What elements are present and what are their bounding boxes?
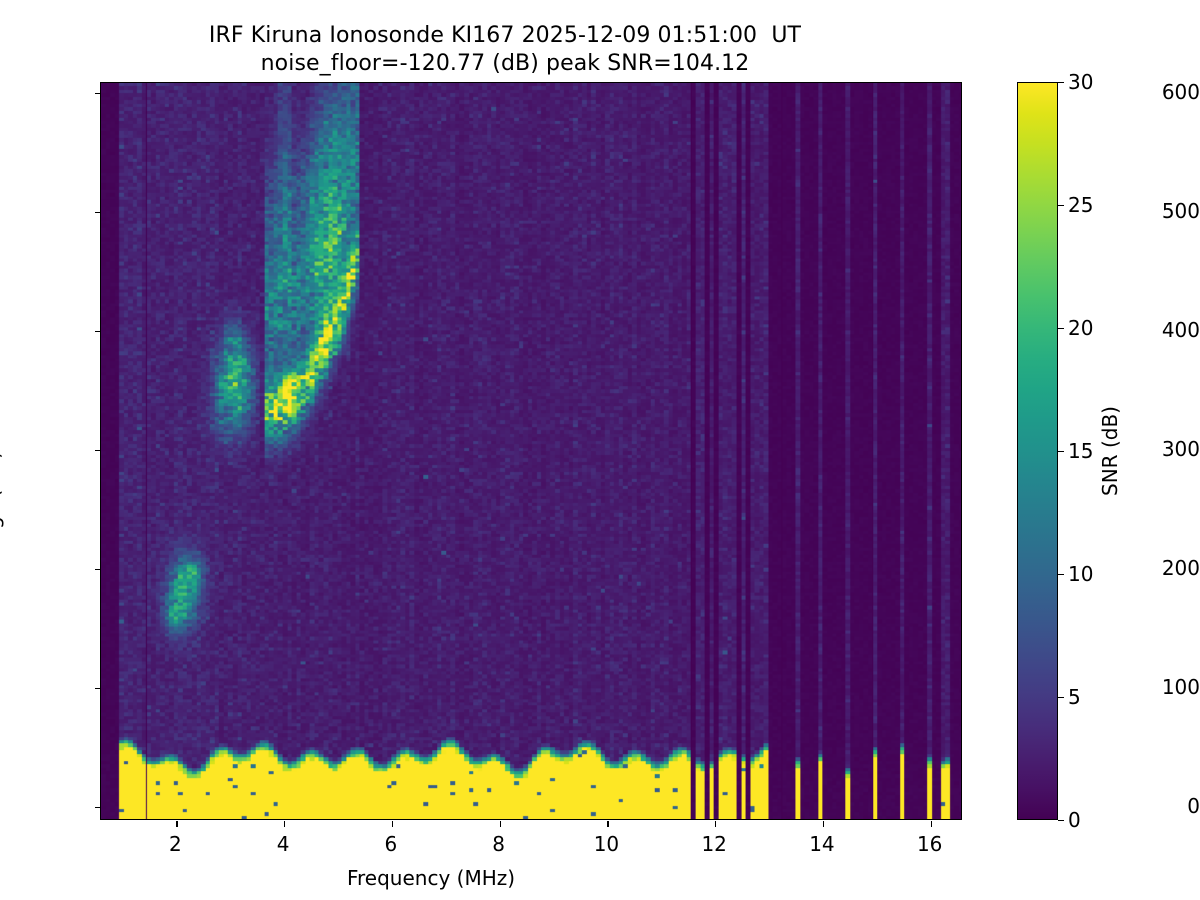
y-tick-label: 100 <box>1112 675 1200 699</box>
x-tick <box>392 821 393 827</box>
colorbar: 051015202530 <box>1017 82 1058 820</box>
y-tick-label: 0 <box>1112 794 1200 818</box>
y-tick <box>95 688 101 689</box>
colorbar-tick <box>1058 697 1064 698</box>
y-tick <box>95 93 101 94</box>
colorbar-tick <box>1058 82 1064 83</box>
x-tick-label: 4 <box>277 832 290 856</box>
colorbar-tick-label: 15 <box>1068 439 1093 463</box>
x-tick-label: 16 <box>917 832 942 856</box>
x-tick-label: 10 <box>594 832 619 856</box>
ionogram-heatmap <box>101 83 961 819</box>
colorbar-tick-label: 30 <box>1068 70 1093 94</box>
x-tick <box>823 821 824 827</box>
y-tick-label: 400 <box>1112 318 1200 342</box>
y-tick <box>95 331 101 332</box>
x-axis-label: Frequency (MHz) <box>347 866 515 890</box>
title-line-2: noise_floor=-120.77 (dB) peak SNR=104.12 <box>0 50 1010 78</box>
y-tick <box>95 807 101 808</box>
colorbar-tick <box>1058 574 1064 575</box>
x-tick-label: 12 <box>701 832 726 856</box>
x-tick-label: 2 <box>169 832 182 856</box>
colorbar-tick <box>1058 820 1064 821</box>
y-tick <box>95 450 101 451</box>
colorbar-tick <box>1058 451 1064 452</box>
y-tick-label: 500 <box>1112 199 1200 223</box>
y-tick-label: 300 <box>1112 437 1200 461</box>
x-tick-label: 8 <box>492 832 505 856</box>
colorbar-tick-label: 0 <box>1068 808 1081 832</box>
ionogram-figure: IRF Kiruna Ionosonde KI167 2025-12-09 01… <box>0 0 1200 900</box>
figure-title: IRF Kiruna Ionosonde KI167 2025-12-09 01… <box>0 22 1010 78</box>
title-line-1: IRF Kiruna Ionosonde KI167 2025-12-09 01… <box>0 22 1010 50</box>
colorbar-tick <box>1058 328 1064 329</box>
y-tick <box>95 212 101 213</box>
x-tick <box>931 821 932 827</box>
colorbar-tick-label: 10 <box>1068 562 1093 586</box>
ionogram-plot-area <box>100 82 962 820</box>
x-tick-label: 14 <box>809 832 834 856</box>
x-tick <box>715 821 716 827</box>
colorbar-tick-label: 25 <box>1068 193 1093 217</box>
x-tick <box>176 821 177 827</box>
x-tick <box>500 821 501 827</box>
colorbar-gradient <box>1017 82 1058 820</box>
y-tick-label: 600 <box>1112 80 1200 104</box>
y-tick <box>95 569 101 570</box>
x-tick <box>284 821 285 827</box>
colorbar-tick <box>1058 205 1064 206</box>
y-axis-label: Virtual range (km) <box>0 451 4 634</box>
x-tick <box>607 821 608 827</box>
x-tick-label: 6 <box>385 832 398 856</box>
colorbar-label: SNR (dB) <box>1098 406 1122 496</box>
colorbar-tick-label: 20 <box>1068 316 1093 340</box>
y-tick-label: 200 <box>1112 556 1200 580</box>
colorbar-tick-label: 5 <box>1068 685 1081 709</box>
